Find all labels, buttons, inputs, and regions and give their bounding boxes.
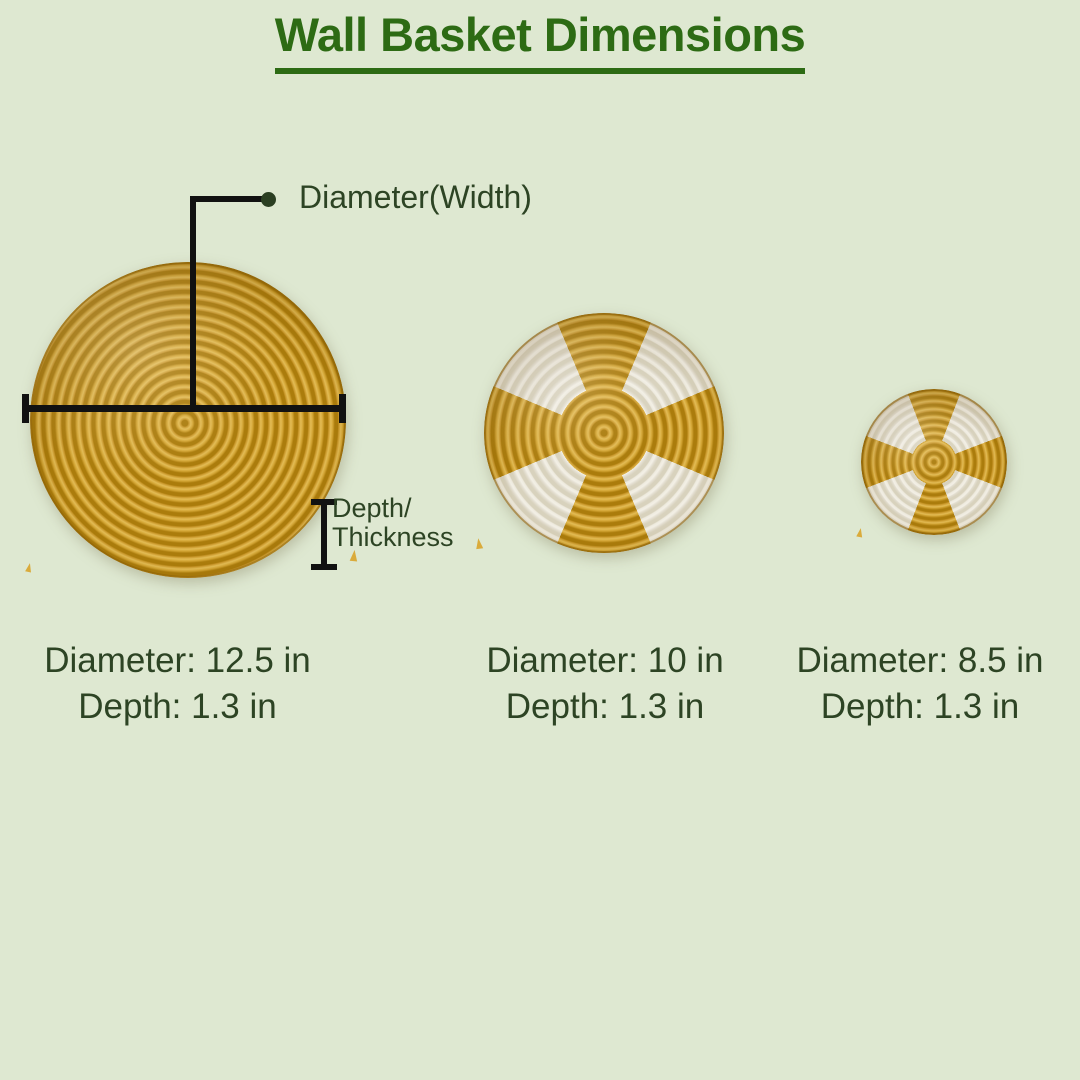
diameter-leader-dot: [261, 192, 276, 207]
basket-small: [861, 389, 1007, 535]
caption-basket-small: Diameter: 8.5 in Depth: 1.3 in: [760, 638, 1080, 730]
diameter-annotation-label: Diameter(Width): [299, 181, 532, 215]
title-container: Wall Basket Dimensions: [0, 8, 1080, 74]
fiber-speck-small: [856, 528, 863, 538]
diameter-tick-left: [22, 394, 29, 423]
diameter-measure-bar: [22, 405, 346, 412]
star-pattern-small: [861, 389, 1007, 535]
depth-measure-bar: [321, 501, 327, 570]
diameter-leader-vertical: [190, 196, 196, 411]
diameter-tick-right: [339, 394, 346, 423]
caption-basket-medium: Diameter: 10 in Depth: 1.3 in: [430, 638, 780, 730]
infographic-canvas: Wall Basket Dimensions Diameter(Width) D…: [0, 0, 1080, 1080]
depth-tick-bottom: [311, 564, 337, 570]
diameter-leader-horizontal: [190, 196, 268, 202]
depth-annotation-label: Depth/ Thickness: [332, 494, 454, 551]
basket-medium: [484, 313, 724, 553]
coil-texture-large: [30, 262, 346, 578]
star-pattern-medium: [484, 313, 724, 553]
page-title: Wall Basket Dimensions: [275, 8, 806, 74]
caption-basket-large: Diameter: 12.5 in Depth: 1.3 in: [0, 638, 355, 730]
fiber-speck-large: [25, 562, 33, 572]
basket-large: [30, 262, 346, 578]
fiber-speck-medium: [475, 538, 483, 549]
